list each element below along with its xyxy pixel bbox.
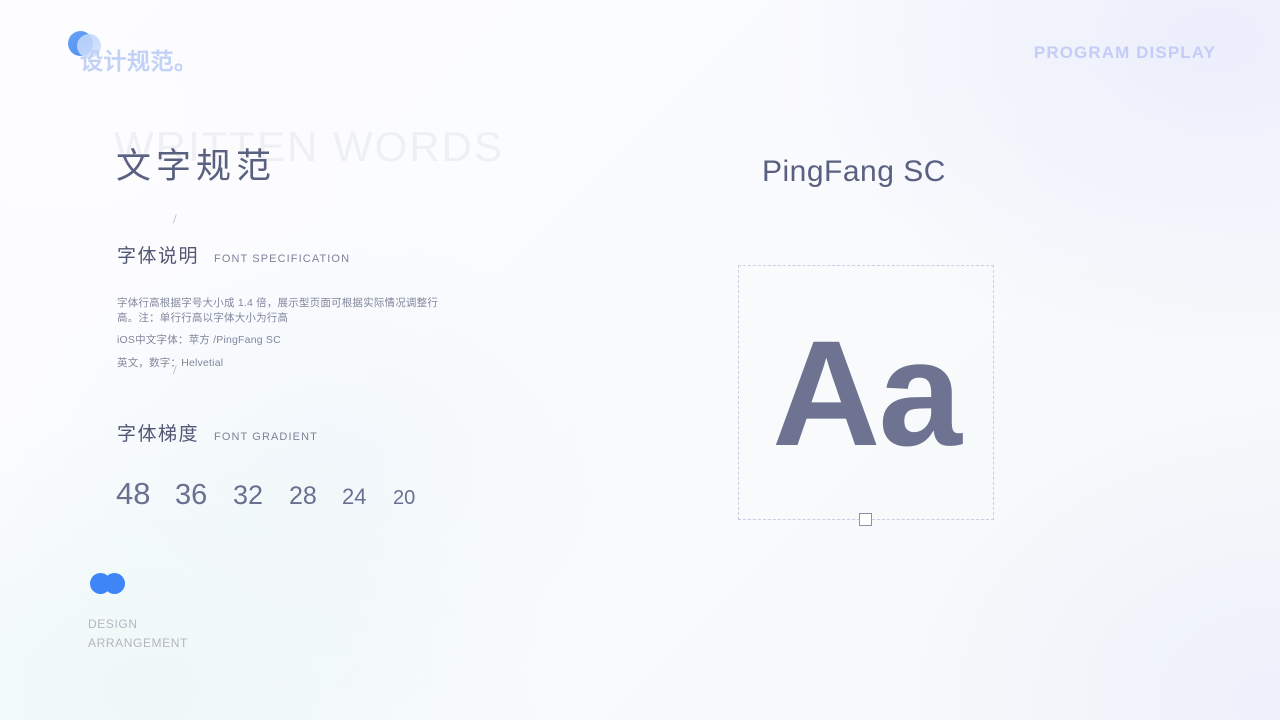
section-one-heading-en: FONT SPECIFICATION [214,253,350,265]
font-size-sample-32: 32 [233,480,289,511]
font-size-sample-28: 28 [289,482,342,511]
body-paragraph: 字体行高根据字号大小成 1.4 倍，展示型页面可根据实际情况调整行高。注：单行行… [117,296,447,326]
footer-dot-right-icon [104,573,125,594]
font-specimen-box: Aa [738,265,994,520]
logo-text: 设计规范。 [80,42,198,76]
footer-caption: DESIGN ARRANGEMENT [88,615,188,653]
slide-canvas: 设计规范。 PROGRAM DISPLAY WRITTEN WORDS 文字规范… [0,0,1280,720]
footer-caption-line-one: DESIGN [88,615,188,634]
font-family-name: PingFang SC [762,155,946,189]
body-line-ios-font: iOS中文字体：苹方 /PingFang SC [117,333,447,348]
section-one-heading-cn: 字体说明 [117,241,199,268]
font-size-scale: 48 36 32 28 24 20 [116,476,415,512]
program-display-label: PROGRAM DISPLAY [1034,43,1216,63]
font-specimen-glyph: Aa [739,318,993,468]
font-specification-body: 字体行高根据字号大小成 1.4 倍，展示型页面可根据实际情况调整行高。注：单行行… [117,296,447,371]
font-size-sample-20: 20 [393,487,415,510]
body-line-latin-font: 英文，数字：Helvetial [117,356,447,371]
section-two-heading-cn: 字体梯度 [117,419,199,446]
footer-caption-line-two: ARRANGEMENT [88,634,188,653]
footer-dots-icon [90,573,130,594]
brand-logo[interactable]: 设计规范。 [66,28,266,74]
font-size-sample-24: 24 [342,484,393,510]
specimen-resize-handle[interactable] [859,513,872,526]
font-size-sample-48: 48 [116,476,175,512]
page-title: 文字规范 [116,138,276,189]
section-two-heading-en: FONT GRADIENT [214,431,318,443]
section-divider-slash-one: / [173,211,177,227]
font-size-sample-36: 36 [175,479,233,512]
section-divider-slash-two: / [173,362,177,378]
